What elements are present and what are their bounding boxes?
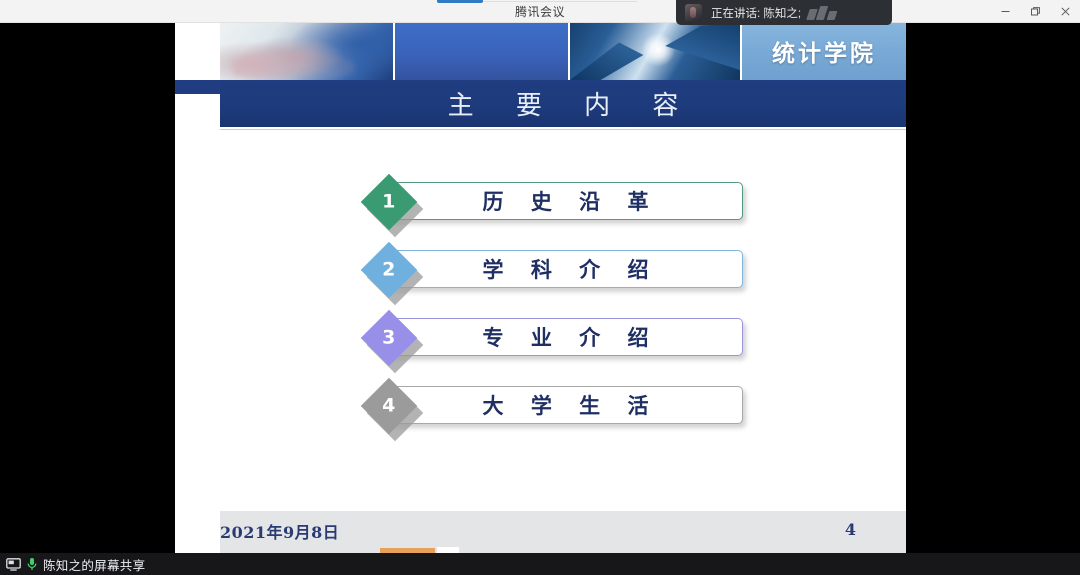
slide-title-bar: 主 要 内 容 xyxy=(220,80,906,127)
microphone-icon xyxy=(26,557,38,571)
shared-screen-viewport[interactable]: 统计学院 主 要 内 容 历 史 沿 革 1 学 科 介 绍 xyxy=(0,22,1080,553)
slide-page-number: 4 xyxy=(845,520,856,539)
diamond-number-4: 4 xyxy=(382,395,395,417)
content-row-label-4: 大 学 生 活 xyxy=(473,390,659,420)
title-bar-left-notch xyxy=(175,80,220,94)
department-panel: 统计学院 xyxy=(742,22,906,80)
diamond-number-2: 2 xyxy=(382,259,395,281)
footer-date: 2021年9月8日 xyxy=(220,519,339,543)
presentation-slide: 统计学院 主 要 内 容 历 史 沿 革 1 学 科 介 绍 xyxy=(175,22,906,553)
road-photo-image xyxy=(570,22,740,80)
diamond-number-1: 1 xyxy=(382,191,395,213)
monitor-share-icon xyxy=(6,558,21,571)
content-row-bar-3: 专 业 介 绍 xyxy=(388,318,743,356)
maximize-button[interactable] xyxy=(1020,0,1050,22)
screen-share-status[interactable]: 陈知之的屏幕共享 xyxy=(0,553,145,575)
content-row-bar-4: 大 学 生 活 xyxy=(388,386,743,424)
list-item: 历 史 沿 革 1 xyxy=(175,172,906,240)
footer-left-block xyxy=(175,511,220,553)
window-titlebar[interactable]: 腾讯会议 xyxy=(0,0,1080,23)
slide-footer: 2021年9月8日 4 xyxy=(175,511,906,553)
slide-header-banner: 统计学院 xyxy=(175,22,906,80)
content-row-label-2: 学 科 介 绍 xyxy=(473,254,659,284)
list-item: 学 科 介 绍 2 xyxy=(175,240,906,308)
keyboard-photo-image xyxy=(220,22,393,80)
list-item: 专 业 介 绍 3 xyxy=(175,308,906,376)
restore-icon xyxy=(1030,6,1041,17)
blue-panel-block xyxy=(395,22,568,80)
active-speaker-label: 正在讲话: 陈知之; xyxy=(711,5,801,21)
screen-share-label: 陈知之的屏幕共享 xyxy=(43,555,145,574)
window-controls xyxy=(990,0,1080,22)
close-button[interactable] xyxy=(1050,0,1080,22)
meeting-bottom-bar: 陈知之的屏幕共享 xyxy=(0,553,1080,575)
department-label: 统计学院 xyxy=(772,34,876,68)
diamond-number-3: 3 xyxy=(382,327,395,349)
list-item: 大 学 生 活 4 xyxy=(175,376,906,444)
content-row-label-1: 历 史 沿 革 xyxy=(473,186,659,216)
content-row-bar-1: 历 史 沿 革 xyxy=(388,182,743,220)
close-icon xyxy=(1060,6,1071,17)
audio-wave-icon xyxy=(808,6,836,20)
title-underline-divider xyxy=(220,129,906,130)
minimize-button[interactable] xyxy=(990,0,1020,22)
active-speaker-indicator[interactable]: 正在讲话: 陈知之; xyxy=(676,0,892,25)
page-title: 主 要 内 容 xyxy=(431,85,696,122)
speaker-avatar-icon xyxy=(685,4,702,21)
content-row-label-3: 专 业 介 绍 xyxy=(473,322,659,352)
app-title: 腾讯会议 xyxy=(0,3,1080,20)
content-list: 历 史 沿 革 1 学 科 介 绍 2 专 业 介 绍 xyxy=(175,172,906,444)
minimize-icon xyxy=(1000,6,1011,17)
content-row-bar-2: 学 科 介 绍 xyxy=(388,250,743,288)
